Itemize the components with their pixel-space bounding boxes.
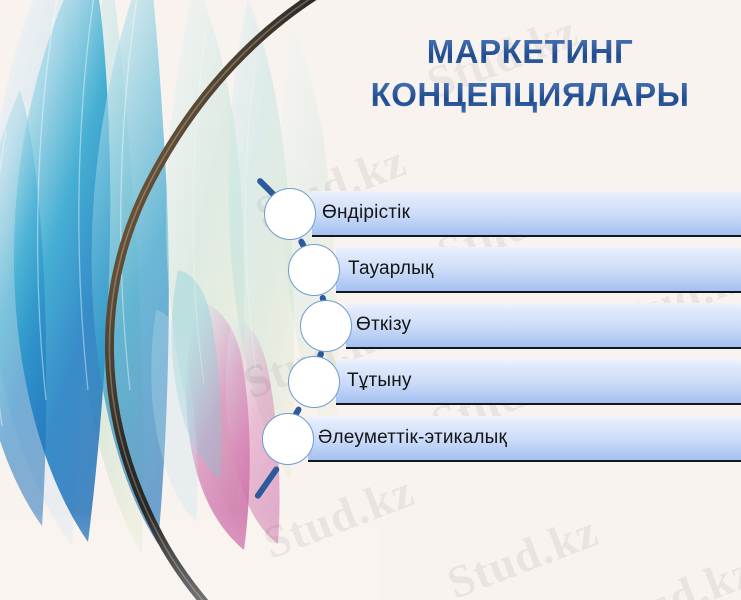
list-item[interactable]: Әлеуметтік-этикалық bbox=[0, 416, 741, 462]
list-item-node[interactable] bbox=[288, 244, 340, 296]
list-item[interactable]: Тұтыну bbox=[0, 359, 741, 405]
list-item-node[interactable] bbox=[262, 413, 314, 465]
list-item-node[interactable] bbox=[288, 356, 340, 408]
list-item[interactable]: Тауарлық bbox=[0, 247, 741, 293]
list-item[interactable]: Өндірістік bbox=[0, 191, 741, 237]
concept-list: Өндірістік Тауарлық Өткізу Тұтыну Әлеуме… bbox=[0, 0, 741, 600]
list-item[interactable]: Өткізу bbox=[0, 303, 741, 349]
list-item-label: Өндірістік bbox=[322, 191, 410, 235]
list-item-label: Тауарлық bbox=[348, 247, 434, 291]
connector-line-bottom bbox=[254, 465, 281, 500]
list-item-node[interactable] bbox=[300, 300, 352, 352]
slide-canvas: Stud.kz Stud.kz Stud.kz Stud.kz Stud.kz … bbox=[0, 0, 741, 600]
list-item-label: Әлеуметтік-этикалық bbox=[318, 416, 507, 460]
list-item-node[interactable] bbox=[264, 188, 316, 240]
list-item-label: Тұтыну bbox=[347, 359, 412, 403]
list-item-label: Өткізу bbox=[356, 303, 411, 347]
